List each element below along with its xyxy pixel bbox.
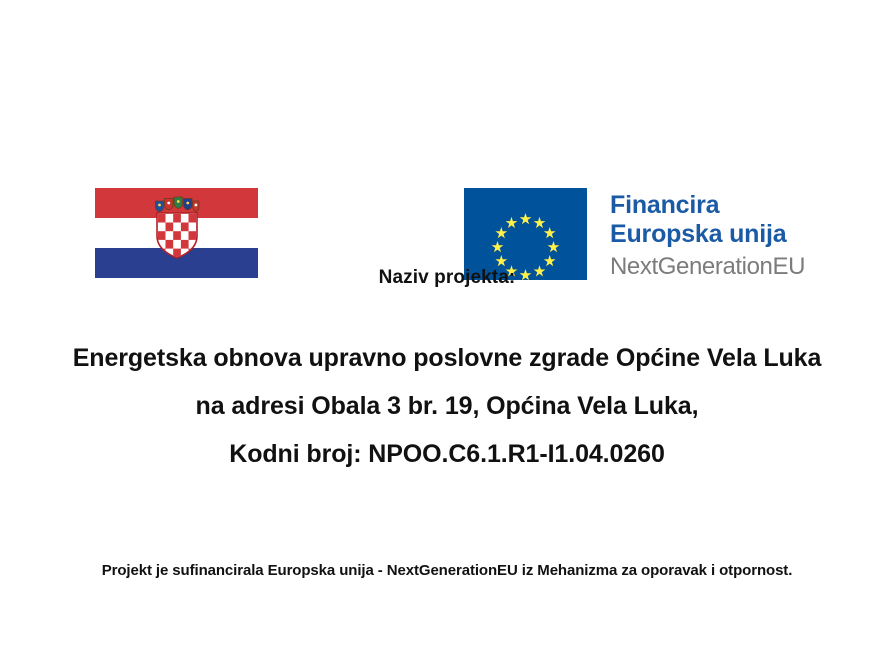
project-code-line: Kodni broj: NPOO.C6.1.R1-I1.04.0260 <box>0 430 894 478</box>
funding-footer-note: Projekt je sufinancirala Europska unija … <box>0 562 894 579</box>
croatian-flag <box>95 188 258 278</box>
eu-wordmark-line2: Europska unija <box>610 220 880 249</box>
project-title-line-1: Energetska obnova upravno poslovne zgrad… <box>0 334 894 382</box>
project-title: Energetska obnova upravno poslovne zgrad… <box>0 334 894 478</box>
project-name-label: Naziv projekta: <box>0 267 894 289</box>
logo-band: Financira Europska unija NextGenerationE… <box>0 88 894 200</box>
eu-wordmark-line1: Financira <box>610 191 880 220</box>
croatian-coat-of-arms-icon <box>154 196 200 260</box>
poster-page: Financira Europska unija NextGenerationE… <box>0 0 894 651</box>
project-title-line-2: na adresi Obala 3 br. 19, Općina Vela Lu… <box>0 382 894 430</box>
